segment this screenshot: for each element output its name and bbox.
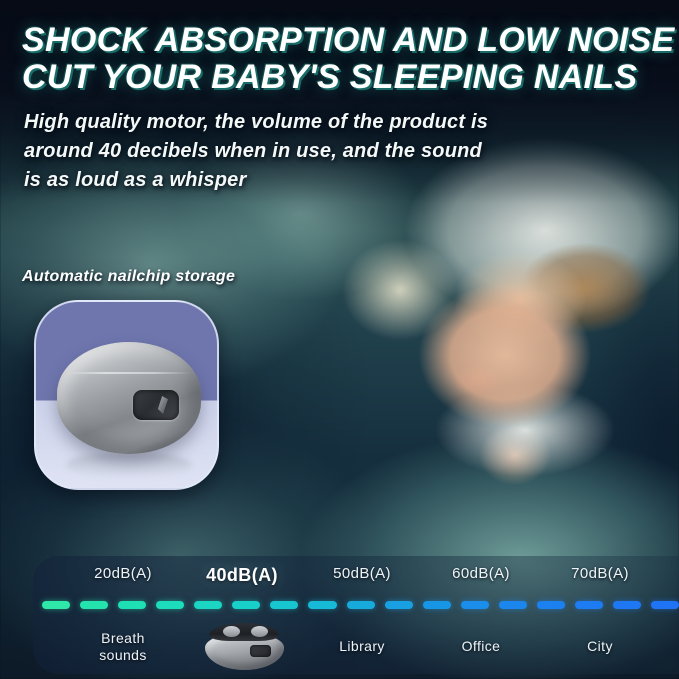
db-dash-1 [80, 601, 108, 609]
db-dash-7 [308, 601, 336, 609]
device-window [133, 390, 179, 420]
db-label-50: 50dB(A) [333, 565, 391, 582]
headline-line-2: CUT YOUR BABY'S SLEEPING NAILS [22, 59, 667, 96]
decibel-value-labels: 20dB(A) 40dB(A) 50dB(A) 60dB(A) 70dB(A) [0, 565, 679, 595]
db-dash-0 [42, 601, 70, 609]
db-dash-6 [270, 601, 298, 609]
db-dash-14 [575, 601, 603, 609]
db-dash-4 [194, 601, 222, 609]
db-source-breath-sounds: Breath sounds [99, 630, 147, 664]
db-dash-16 [651, 601, 679, 609]
inset-device-reflection [66, 452, 192, 478]
db-dash-8 [347, 601, 375, 609]
db-source-breath-line-1: Breath [99, 630, 147, 647]
subtitle-line-3: is as loud as a whisper [24, 166, 584, 195]
nail-trimmer-icon [203, 623, 286, 671]
trimmer-dial-right [251, 626, 268, 637]
device-blade-icon [155, 396, 168, 414]
db-dash-2 [118, 601, 146, 609]
product-infographic-poster: SHOCK ABSORPTION AND LOW NOISE CUT YOUR … [0, 0, 679, 679]
db-dash-9 [385, 601, 413, 609]
inset-card-label: Automatic nailchip storage [22, 268, 235, 286]
db-source-city: City [587, 638, 613, 655]
subtitle-description: High quality motor, the volume of the pr… [24, 108, 584, 195]
decibel-gradient-dash-strip [42, 600, 679, 610]
device-seam-line [67, 372, 191, 374]
inset-card-nailchip-storage [34, 300, 219, 490]
db-label-40-current: 40dB(A) [206, 565, 278, 586]
db-label-60: 60dB(A) [452, 565, 510, 582]
trimmer-top-cap [209, 623, 279, 641]
db-source-office: Office [462, 638, 501, 655]
db-dash-12 [499, 601, 527, 609]
db-source-breath-line-2: sounds [99, 647, 147, 664]
trimmer-window [250, 645, 271, 657]
db-dash-15 [613, 601, 641, 609]
db-dash-11 [461, 601, 489, 609]
db-dash-10 [423, 601, 451, 609]
nail-trimmer-case-icon [57, 342, 201, 454]
headline-line-1: SHOCK ABSORPTION AND LOW NOISE [22, 22, 667, 59]
db-dash-13 [537, 601, 565, 609]
subtitle-line-1: High quality motor, the volume of the pr… [24, 108, 584, 137]
db-label-70: 70dB(A) [571, 565, 629, 582]
trimmer-dial-left [223, 626, 240, 637]
decibel-source-labels: Breath sounds Library Office City [0, 630, 679, 674]
subtitle-line-2: around 40 decibels when in use, and the … [24, 137, 584, 166]
db-dash-3 [156, 601, 184, 609]
db-label-20: 20dB(A) [94, 565, 152, 582]
db-dash-5 [232, 601, 260, 609]
db-source-library: Library [339, 638, 385, 655]
page-title: SHOCK ABSORPTION AND LOW NOISE CUT YOUR … [22, 22, 667, 96]
